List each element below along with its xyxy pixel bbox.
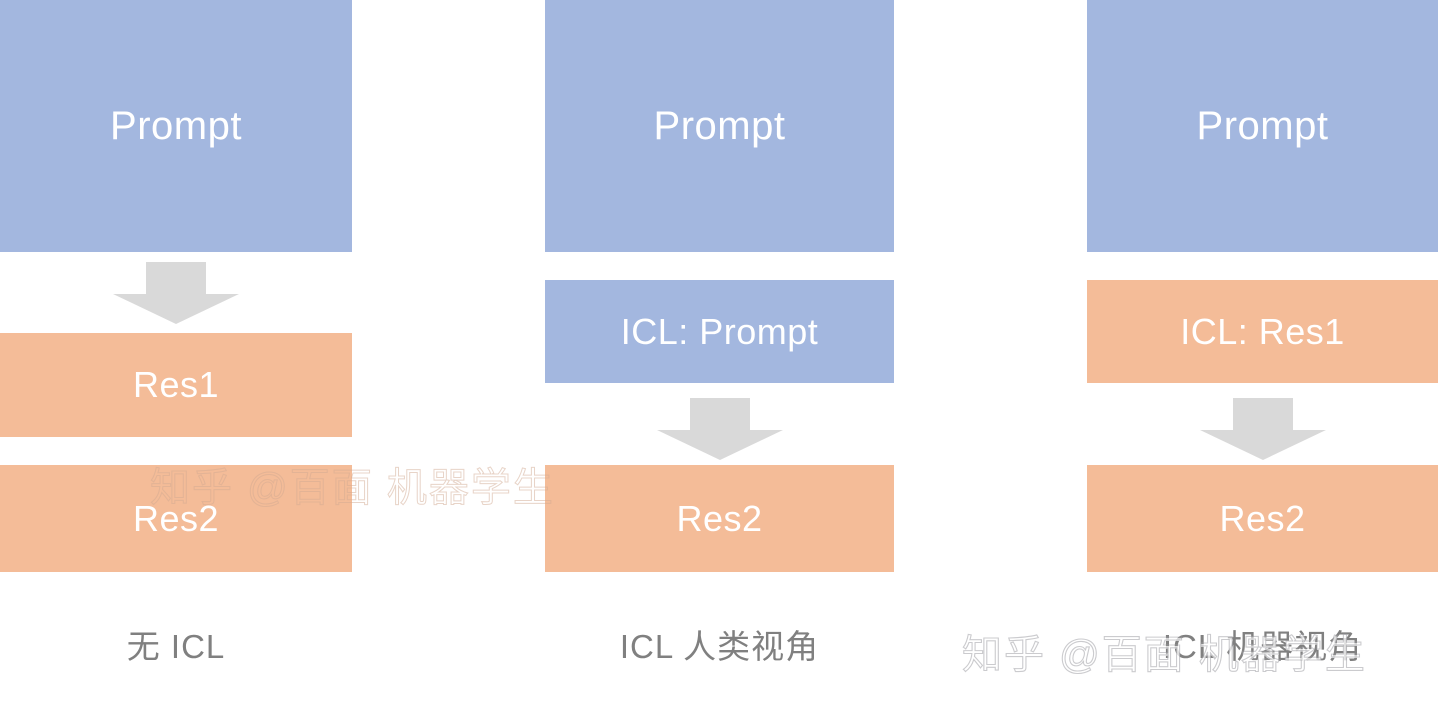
- column-no-icl: Prompt Res1 Res2 无 ICL: [0, 0, 352, 707]
- box-res1: Res1: [0, 333, 352, 437]
- arrow-down-icon: [657, 398, 783, 460]
- box-icl-prompt: ICL: Prompt: [545, 280, 894, 383]
- box-prompt: Prompt: [0, 0, 352, 252]
- box-icl-res1: ICL: Res1: [1087, 280, 1438, 383]
- caption-no-icl: 无 ICL: [0, 620, 352, 668]
- caption-icl-machine-view: ICL 机器视角: [1087, 620, 1438, 668]
- column-icl-human-view: Prompt ICL: Prompt Res2 ICL 人类视角: [545, 0, 894, 707]
- caption-icl-human-view: ICL 人类视角: [545, 620, 894, 668]
- box-res2: Res2: [545, 465, 894, 572]
- column-icl-machine-view: Prompt ICL: Res1 Res2 ICL 机器视角: [1087, 0, 1438, 707]
- box-prompt: Prompt: [1087, 0, 1438, 252]
- arrow-down-icon: [1200, 398, 1326, 460]
- box-prompt: Prompt: [545, 0, 894, 252]
- box-res2: Res2: [1087, 465, 1438, 572]
- diagram-canvas: Prompt Res1 Res2 无 ICL Prompt ICL: Promp…: [0, 0, 1440, 707]
- arrow-down-icon: [113, 262, 239, 324]
- box-res2: Res2: [0, 465, 352, 572]
